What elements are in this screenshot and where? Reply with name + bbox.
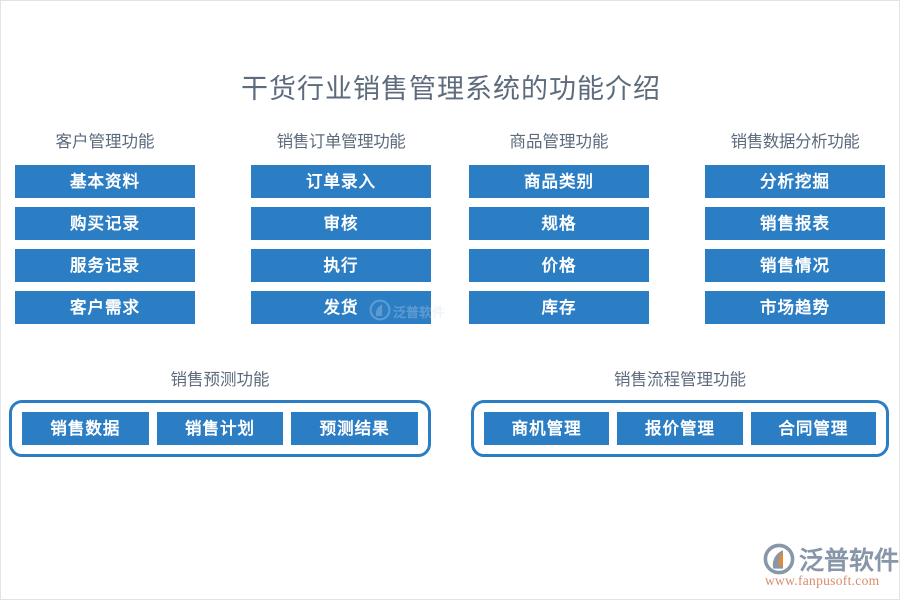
brand-row: 泛普软件 xyxy=(763,541,899,577)
feature-chip[interactable]: 销售情况 xyxy=(705,249,885,282)
panel-box-sales-process: 商机管理 报价管理 合同管理 xyxy=(471,400,889,457)
feature-column-sales-analytics: 销售数据分析功能 分析挖掘 销售报表 销售情况 市场趋势 xyxy=(705,131,885,333)
feature-chip[interactable]: 销售报表 xyxy=(705,207,885,240)
feature-chip[interactable]: 分析挖掘 xyxy=(705,165,885,198)
page-title: 干货行业销售管理系统的功能介绍 xyxy=(1,67,900,106)
feature-chip[interactable]: 报价管理 xyxy=(617,412,742,445)
fanpu-logo-icon xyxy=(763,543,795,575)
feature-chip[interactable]: 规格 xyxy=(469,207,649,240)
panel-header-sales-process: 销售流程管理功能 xyxy=(471,369,889,391)
feature-chip[interactable]: 合同管理 xyxy=(751,412,876,445)
feature-chip[interactable]: 购买记录 xyxy=(15,207,195,240)
column-header-sales-order: 销售订单管理功能 xyxy=(251,131,431,153)
feature-chip[interactable]: 库存 xyxy=(469,291,649,324)
feature-chip[interactable]: 销售数据 xyxy=(22,412,149,445)
brand-logo: 泛普软件 www.fanpusoft.com xyxy=(763,541,893,593)
column-header-product: 商品管理功能 xyxy=(469,131,649,153)
panel-sales-forecast: 销售预测功能 销售数据 销售计划 预测结果 xyxy=(9,369,431,457)
feature-chip[interactable]: 服务记录 xyxy=(15,249,195,282)
feature-column-customer: 客户管理功能 基本资料 购买记录 服务记录 客户需求 xyxy=(15,131,195,333)
panel-box-sales-forecast: 销售数据 销售计划 预测结果 xyxy=(9,400,431,457)
column-header-sales-analytics: 销售数据分析功能 xyxy=(705,131,885,153)
feature-chip[interactable]: 预测结果 xyxy=(291,412,418,445)
feature-chip[interactable]: 基本资料 xyxy=(15,165,195,198)
feature-chip[interactable]: 执行 xyxy=(251,249,431,282)
feature-chip[interactable]: 价格 xyxy=(469,249,649,282)
feature-chip[interactable]: 商机管理 xyxy=(484,412,609,445)
feature-chip[interactable]: 发货 xyxy=(251,291,431,324)
brand-name: 泛普软件 xyxy=(799,541,899,577)
feature-chip[interactable]: 客户需求 xyxy=(15,291,195,324)
feature-column-product: 商品管理功能 商品类别 规格 价格 库存 xyxy=(469,131,649,333)
feature-chip[interactable]: 订单录入 xyxy=(251,165,431,198)
feature-column-sales-order: 销售订单管理功能 订单录入 审核 执行 发货 xyxy=(251,131,431,333)
brand-url: www.fanpusoft.com xyxy=(765,573,879,589)
panel-sales-process: 销售流程管理功能 商机管理 报价管理 合同管理 xyxy=(471,369,889,457)
feature-columns: 客户管理功能 基本资料 购买记录 服务记录 客户需求 销售订单管理功能 订单录入… xyxy=(1,131,900,331)
column-header-customer: 客户管理功能 xyxy=(15,131,195,153)
feature-chip[interactable]: 销售计划 xyxy=(157,412,284,445)
feature-chip[interactable]: 审核 xyxy=(251,207,431,240)
panel-header-sales-forecast: 销售预测功能 xyxy=(9,369,431,391)
feature-chip[interactable]: 市场趋势 xyxy=(705,291,885,324)
feature-chip[interactable]: 商品类别 xyxy=(469,165,649,198)
diagram-canvas: 干货行业销售管理系统的功能介绍 客户管理功能 基本资料 购买记录 服务记录 客户… xyxy=(0,0,900,600)
